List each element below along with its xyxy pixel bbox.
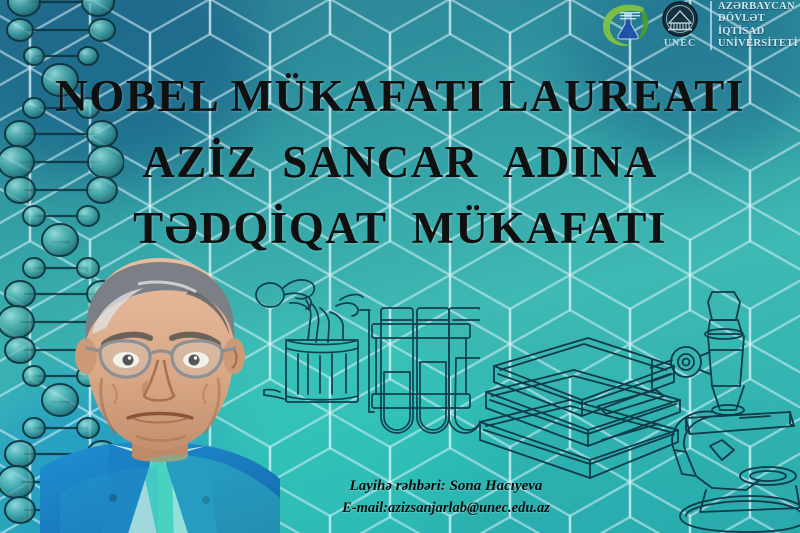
poster-canvas: UNEC AZƏRBAYCAN DÖVLƏT İQTİSAD UNİVERSİT… xyxy=(0,0,800,533)
unec-abbreviation: UNEC xyxy=(664,39,696,49)
microscope-icon xyxy=(650,290,800,533)
title-line-1: NOBEL MÜKAFATI LAUREATI xyxy=(0,68,800,124)
title-line-3-part-1: TƏDQİQAT xyxy=(121,203,399,253)
unec-seal-icon xyxy=(660,1,700,39)
credits-block: Layihə rəhbəri: Sona Hacıyeva E-mail:azi… xyxy=(296,475,596,519)
book-stack-icon xyxy=(478,330,688,490)
title-line-2-part-3: ADINA xyxy=(491,137,670,187)
title-line-2-part-2: SANCAR xyxy=(270,137,491,187)
title-line-2-part-1: AZİZ xyxy=(130,137,270,187)
university-seal: UNEC xyxy=(654,1,706,51)
university-name-line: DÖVLƏT xyxy=(718,13,798,25)
university-name-line: UNİVERSİTETİ xyxy=(718,38,798,50)
aziz-sancar-portrait xyxy=(40,248,280,533)
title-line-2: AZİZSANCARADINA xyxy=(0,134,800,190)
header-logos: UNEC AZƏRBAYCAN DÖVLƏT İQTİSAD UNİVERSİT… xyxy=(598,1,798,51)
supervisor-line: Layihə rəhbəri: Sona Hacıyeva xyxy=(296,475,596,497)
hands-pipette-beaker-icon xyxy=(250,262,480,437)
university-name-line: AZƏRBAYCAN xyxy=(718,1,798,13)
email-line: E-mail:azizsanjarlab@unec.edu.az xyxy=(296,497,596,519)
university-name-line: İQTİSAD xyxy=(718,26,798,38)
poster-title-block: NOBEL MÜKAFATI LAUREATI AZİZSANCARADINA … xyxy=(0,68,800,256)
title-line-3-part-2: MÜKAFATI xyxy=(400,203,679,253)
university-name: AZƏRBAYCAN DÖVLƏT İQTİSAD UNİVERSİTETİ xyxy=(710,1,798,50)
leaf-flask-logo xyxy=(598,1,654,49)
